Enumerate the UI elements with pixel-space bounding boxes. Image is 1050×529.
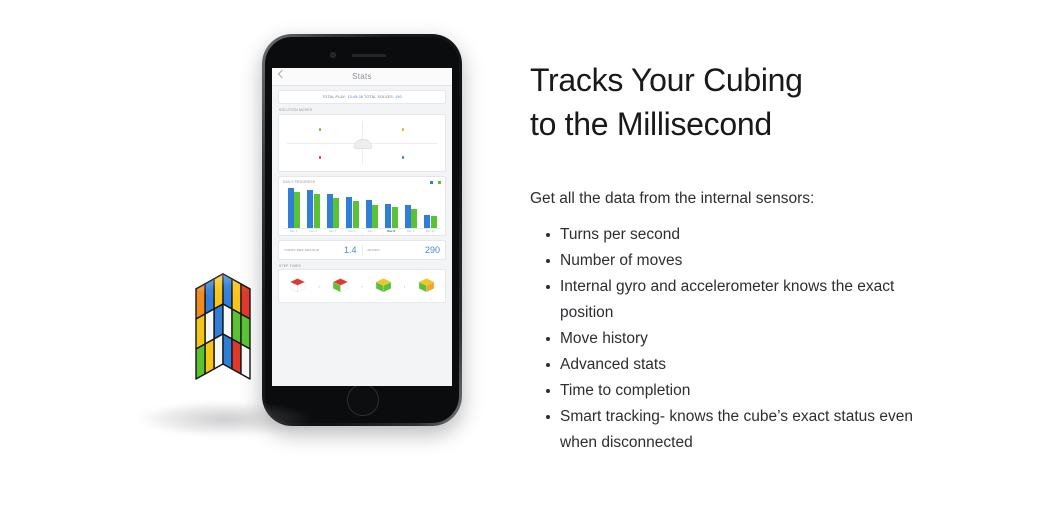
chart-x-axis: Dec 3Dec 4Dec 5Dec 6Dec 7Dec 8Dec 9Dec 1… [283, 229, 441, 233]
axis-tick: Dec 10 [421, 230, 441, 233]
chart-plot-area [283, 186, 441, 229]
total-solves-value: 190 [395, 95, 402, 99]
marketing-copy: Tracks Your Cubing to the Millisecond Ge… [530, 0, 1030, 529]
bar-group [304, 190, 324, 228]
bar-group [421, 215, 441, 228]
status-dot [319, 128, 322, 131]
bar-average [405, 205, 411, 228]
bar-group [343, 197, 363, 228]
axis-tick: Dec 4 [304, 230, 324, 233]
bar-group [382, 204, 402, 228]
front-camera-icon [330, 52, 336, 58]
bar-best [411, 209, 417, 228]
moves-stat: MOVES 290 [362, 245, 446, 255]
bar-best [314, 194, 320, 228]
bar-best [431, 216, 437, 228]
axis-tick: Dec 6 [343, 230, 363, 233]
bar-average [385, 204, 391, 228]
bar-average [424, 215, 430, 228]
status-dot [402, 128, 405, 131]
bar-best [372, 205, 378, 229]
home-button[interactable] [347, 384, 379, 416]
feature-item: Time to completion [560, 378, 940, 404]
chart-legend [428, 181, 441, 184]
stat-caption [402, 128, 406, 131]
stat-cell [362, 115, 445, 143]
total-play-label: TOTAL PLAY: [322, 95, 346, 99]
status-dot [319, 156, 322, 159]
cube-shadow [140, 402, 310, 436]
step-cube-icon [418, 278, 435, 293]
bar-group [401, 205, 421, 228]
cube-center-icon [354, 139, 372, 149]
headline-line-2: to the Millisecond [530, 106, 772, 142]
feature-list: Turns per secondNumber of movesInternal … [530, 222, 1030, 456]
bar-group [284, 188, 304, 228]
rubiks-cube [128, 252, 318, 448]
bar-group [323, 194, 343, 228]
stat-cell [279, 143, 362, 171]
step-item [370, 278, 396, 294]
legend-swatch [430, 181, 433, 184]
bar-average [288, 188, 294, 228]
axis-tick: Dec 7 [362, 230, 382, 233]
step-item [413, 278, 439, 294]
bar-best [333, 198, 339, 228]
turns-per-second-value: 1.4 [344, 245, 357, 255]
axis-tick: Dec 8 [382, 230, 402, 233]
headline-line-1: Tracks Your Cubing [530, 62, 803, 98]
intro-text: Get all the data from the internal senso… [530, 146, 1030, 210]
status-dot [402, 156, 405, 159]
axis-tick: Dec 9 [401, 230, 421, 233]
screen-title: Stats [272, 68, 452, 85]
solution-moves-label: SOLUTION MOVES [279, 108, 452, 112]
step-cube-icon [332, 278, 349, 293]
feature-item: Smart tracking- knows the cube’s exact s… [560, 404, 940, 456]
total-play-value: 13:45:36 [347, 95, 363, 99]
bar-average [366, 200, 372, 228]
axis-tick: Dec 5 [323, 230, 343, 233]
moves-value: 290 [425, 245, 440, 255]
chart-header: DAILY PROGRESS [283, 180, 441, 184]
bar-best [294, 192, 300, 228]
step-item [328, 278, 354, 294]
step-cube-icon [375, 278, 392, 293]
bar-average [327, 194, 333, 228]
bar-average [346, 197, 352, 228]
earpiece-speaker [352, 54, 386, 57]
totals-summary: TOTAL PLAY: 13:45:36 TOTAL SOLVES: 190 [278, 90, 446, 104]
solution-moves-card [278, 114, 446, 172]
stat-caption [319, 128, 323, 131]
product-visual: Stats TOTAL PLAY: 13:45:36 TOTAL SOLVES:… [0, 0, 500, 529]
feature-item: Move history [560, 326, 940, 352]
page-title: Tracks Your Cubing to the Millisecond [530, 0, 1030, 146]
total-solves-label: TOTAL SOLVES: [364, 95, 394, 99]
chevron-right-icon: › [361, 284, 362, 289]
chart-title: DAILY PROGRESS [283, 180, 315, 184]
legend-item [428, 181, 433, 184]
feature-item: Number of moves [560, 248, 940, 274]
axis-tick: Dec 3 [284, 230, 304, 233]
bar-best [392, 207, 398, 228]
chevron-right-icon: › [404, 284, 405, 289]
app-nav-bar: Stats [272, 68, 452, 86]
daily-progress-card: DAILY PROGRESS Dec 3Dec 4Dec 5Dec 6Dec 7… [278, 176, 446, 236]
bar-average [307, 190, 313, 228]
stat-cell [279, 115, 362, 143]
chevron-right-icon: › [319, 284, 320, 289]
legend-item [437, 181, 442, 184]
bar-best [353, 201, 359, 228]
feature-item: Internal gyro and accelerometer knows th… [560, 274, 940, 326]
stat-cell [362, 143, 445, 171]
moves-label: MOVES [368, 248, 380, 252]
stat-caption [319, 156, 323, 159]
bar-group [362, 200, 382, 228]
stat-caption [402, 156, 406, 159]
legend-swatch [438, 181, 441, 184]
feature-item: Turns per second [560, 222, 940, 248]
feature-item: Advanced stats [560, 352, 940, 378]
